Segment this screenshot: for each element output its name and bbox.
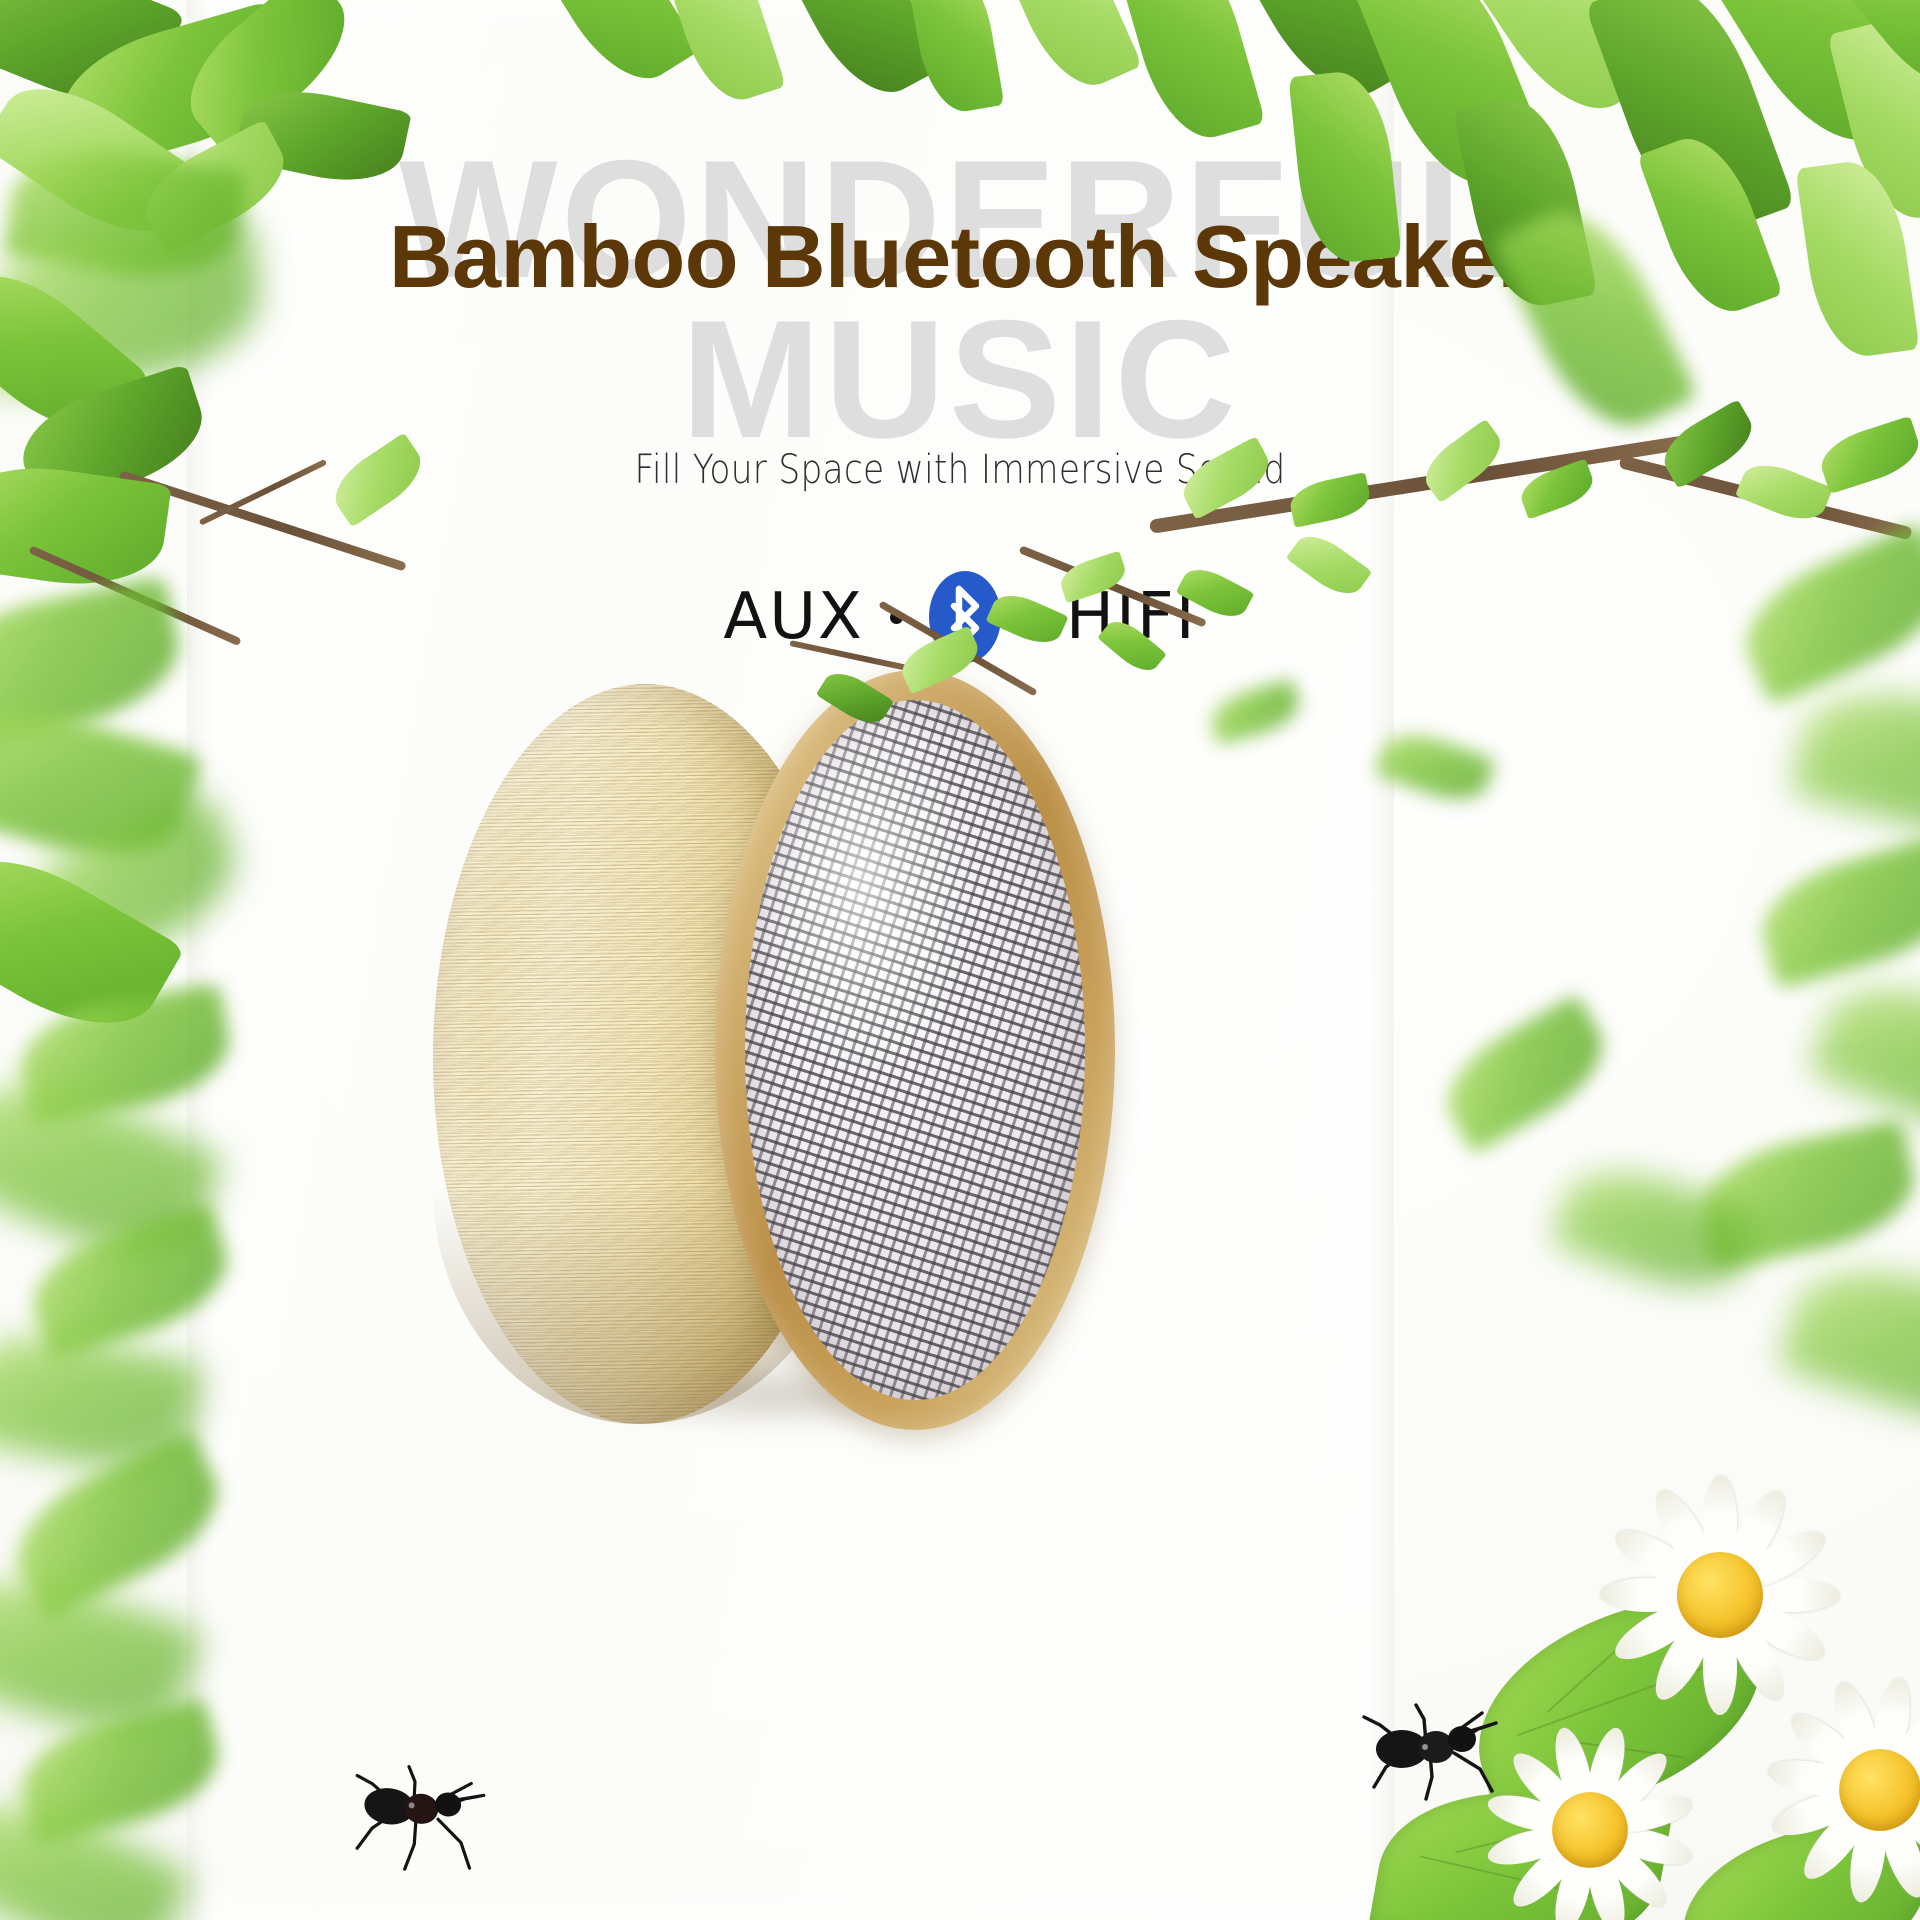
speaker-mesh-grille xyxy=(745,700,1085,1400)
grille-highlight xyxy=(745,700,1085,1400)
product-poster: WONDERFUL MUSIC Bamboo Bluetooth Speaker… xyxy=(0,0,1920,1920)
speaker-bamboo-rim xyxy=(715,670,1115,1430)
product-image xyxy=(415,660,1135,1460)
daisy-center-2 xyxy=(1552,1792,1628,1868)
ant-icon-left xyxy=(323,1749,507,1887)
ant-icon-right xyxy=(1340,1695,1520,1805)
daisy-center-3 xyxy=(1839,1749,1920,1831)
daisy-center-1 xyxy=(1677,1552,1763,1638)
aux-label: AUX xyxy=(723,585,863,649)
